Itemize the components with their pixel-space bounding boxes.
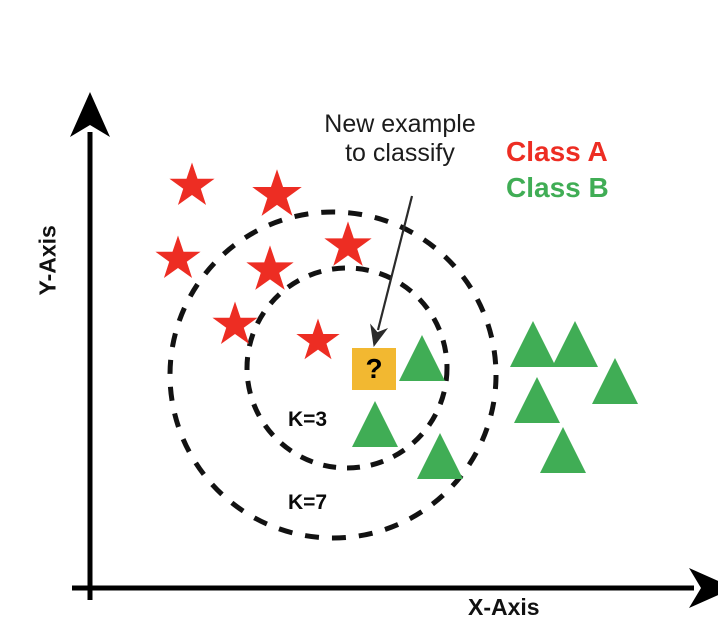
k7-label: K=7 [288, 491, 327, 515]
legend-item-class-a: Class A [506, 134, 609, 170]
star-marker [246, 245, 293, 290]
legend-item-class-b: Class B [506, 170, 609, 206]
legend: Class A Class B [506, 134, 609, 206]
class-a-points [155, 163, 371, 360]
triangle-marker [417, 433, 463, 479]
annotation-new-example-label: New example to classify [300, 110, 500, 168]
triangle-marker [399, 335, 445, 381]
triangle-marker [540, 427, 586, 473]
annotation-pointer-arrow [378, 196, 412, 330]
k3-label: K=3 [288, 408, 327, 432]
y-axis-label: Y-Axis [35, 205, 62, 315]
knn-diagram: New example to classify Class A Class B … [0, 0, 718, 637]
new-example-marker: ? [352, 348, 396, 390]
triangle-marker [510, 321, 556, 367]
triangle-marker [514, 377, 560, 423]
star-marker [155, 236, 200, 278]
star-marker [324, 221, 371, 266]
x-axis-label: X-Axis [468, 594, 540, 621]
diagram-canvas [0, 0, 718, 637]
neighborhood-circles [170, 212, 496, 538]
star-marker [252, 169, 302, 216]
triangle-marker [592, 358, 638, 404]
star-marker [169, 163, 214, 205]
triangle-marker [352, 401, 398, 447]
triangle-marker [552, 321, 598, 367]
star-marker [296, 318, 339, 359]
